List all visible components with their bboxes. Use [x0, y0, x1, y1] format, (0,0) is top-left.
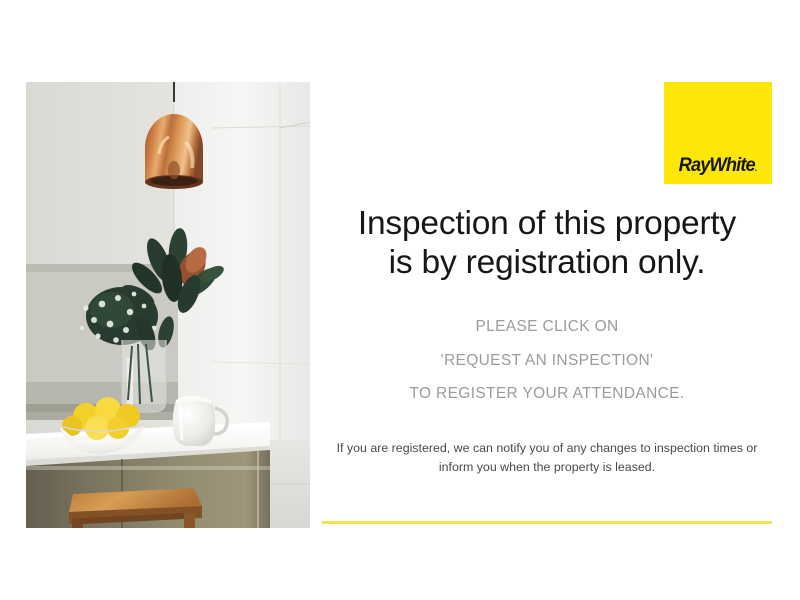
fineprint-block: If you are registered, we can notify you…	[322, 439, 772, 477]
raywhite-trademark-mark: .	[755, 163, 757, 173]
fineprint-line-1: If you are registered, we can notify you…	[337, 441, 758, 455]
kitchen-interior-illustration	[26, 82, 310, 528]
cta-line-1: PLEASE CLICK ON	[322, 319, 772, 335]
headline-line-2: is by registration only.	[389, 244, 706, 281]
raywhite-brand-text: RayWhite	[679, 155, 755, 176]
message-panel: RayWhite. Inspection of this property is…	[322, 82, 772, 528]
yellow-divider-rule	[322, 521, 772, 524]
page-title: Inspection of this property is by regist…	[322, 204, 772, 282]
headline-line-1: Inspection of this property	[358, 205, 736, 242]
cta-line-2: 'REQUEST AN INSPECTION'	[322, 353, 772, 369]
call-to-action-block: PLEASE CLICK ON 'REQUEST AN INSPECTION' …	[322, 319, 772, 402]
property-photo	[26, 82, 310, 528]
cta-line-3: TO REGISTER YOUR ATTENDANCE.	[322, 386, 772, 402]
inspection-registration-slide: RayWhite. Inspection of this property is…	[0, 0, 800, 600]
fineprint-line-2: inform you when the property is leased.	[439, 460, 655, 474]
raywhite-logo: RayWhite.	[664, 82, 772, 184]
raywhite-wordmark: RayWhite.	[679, 156, 758, 175]
